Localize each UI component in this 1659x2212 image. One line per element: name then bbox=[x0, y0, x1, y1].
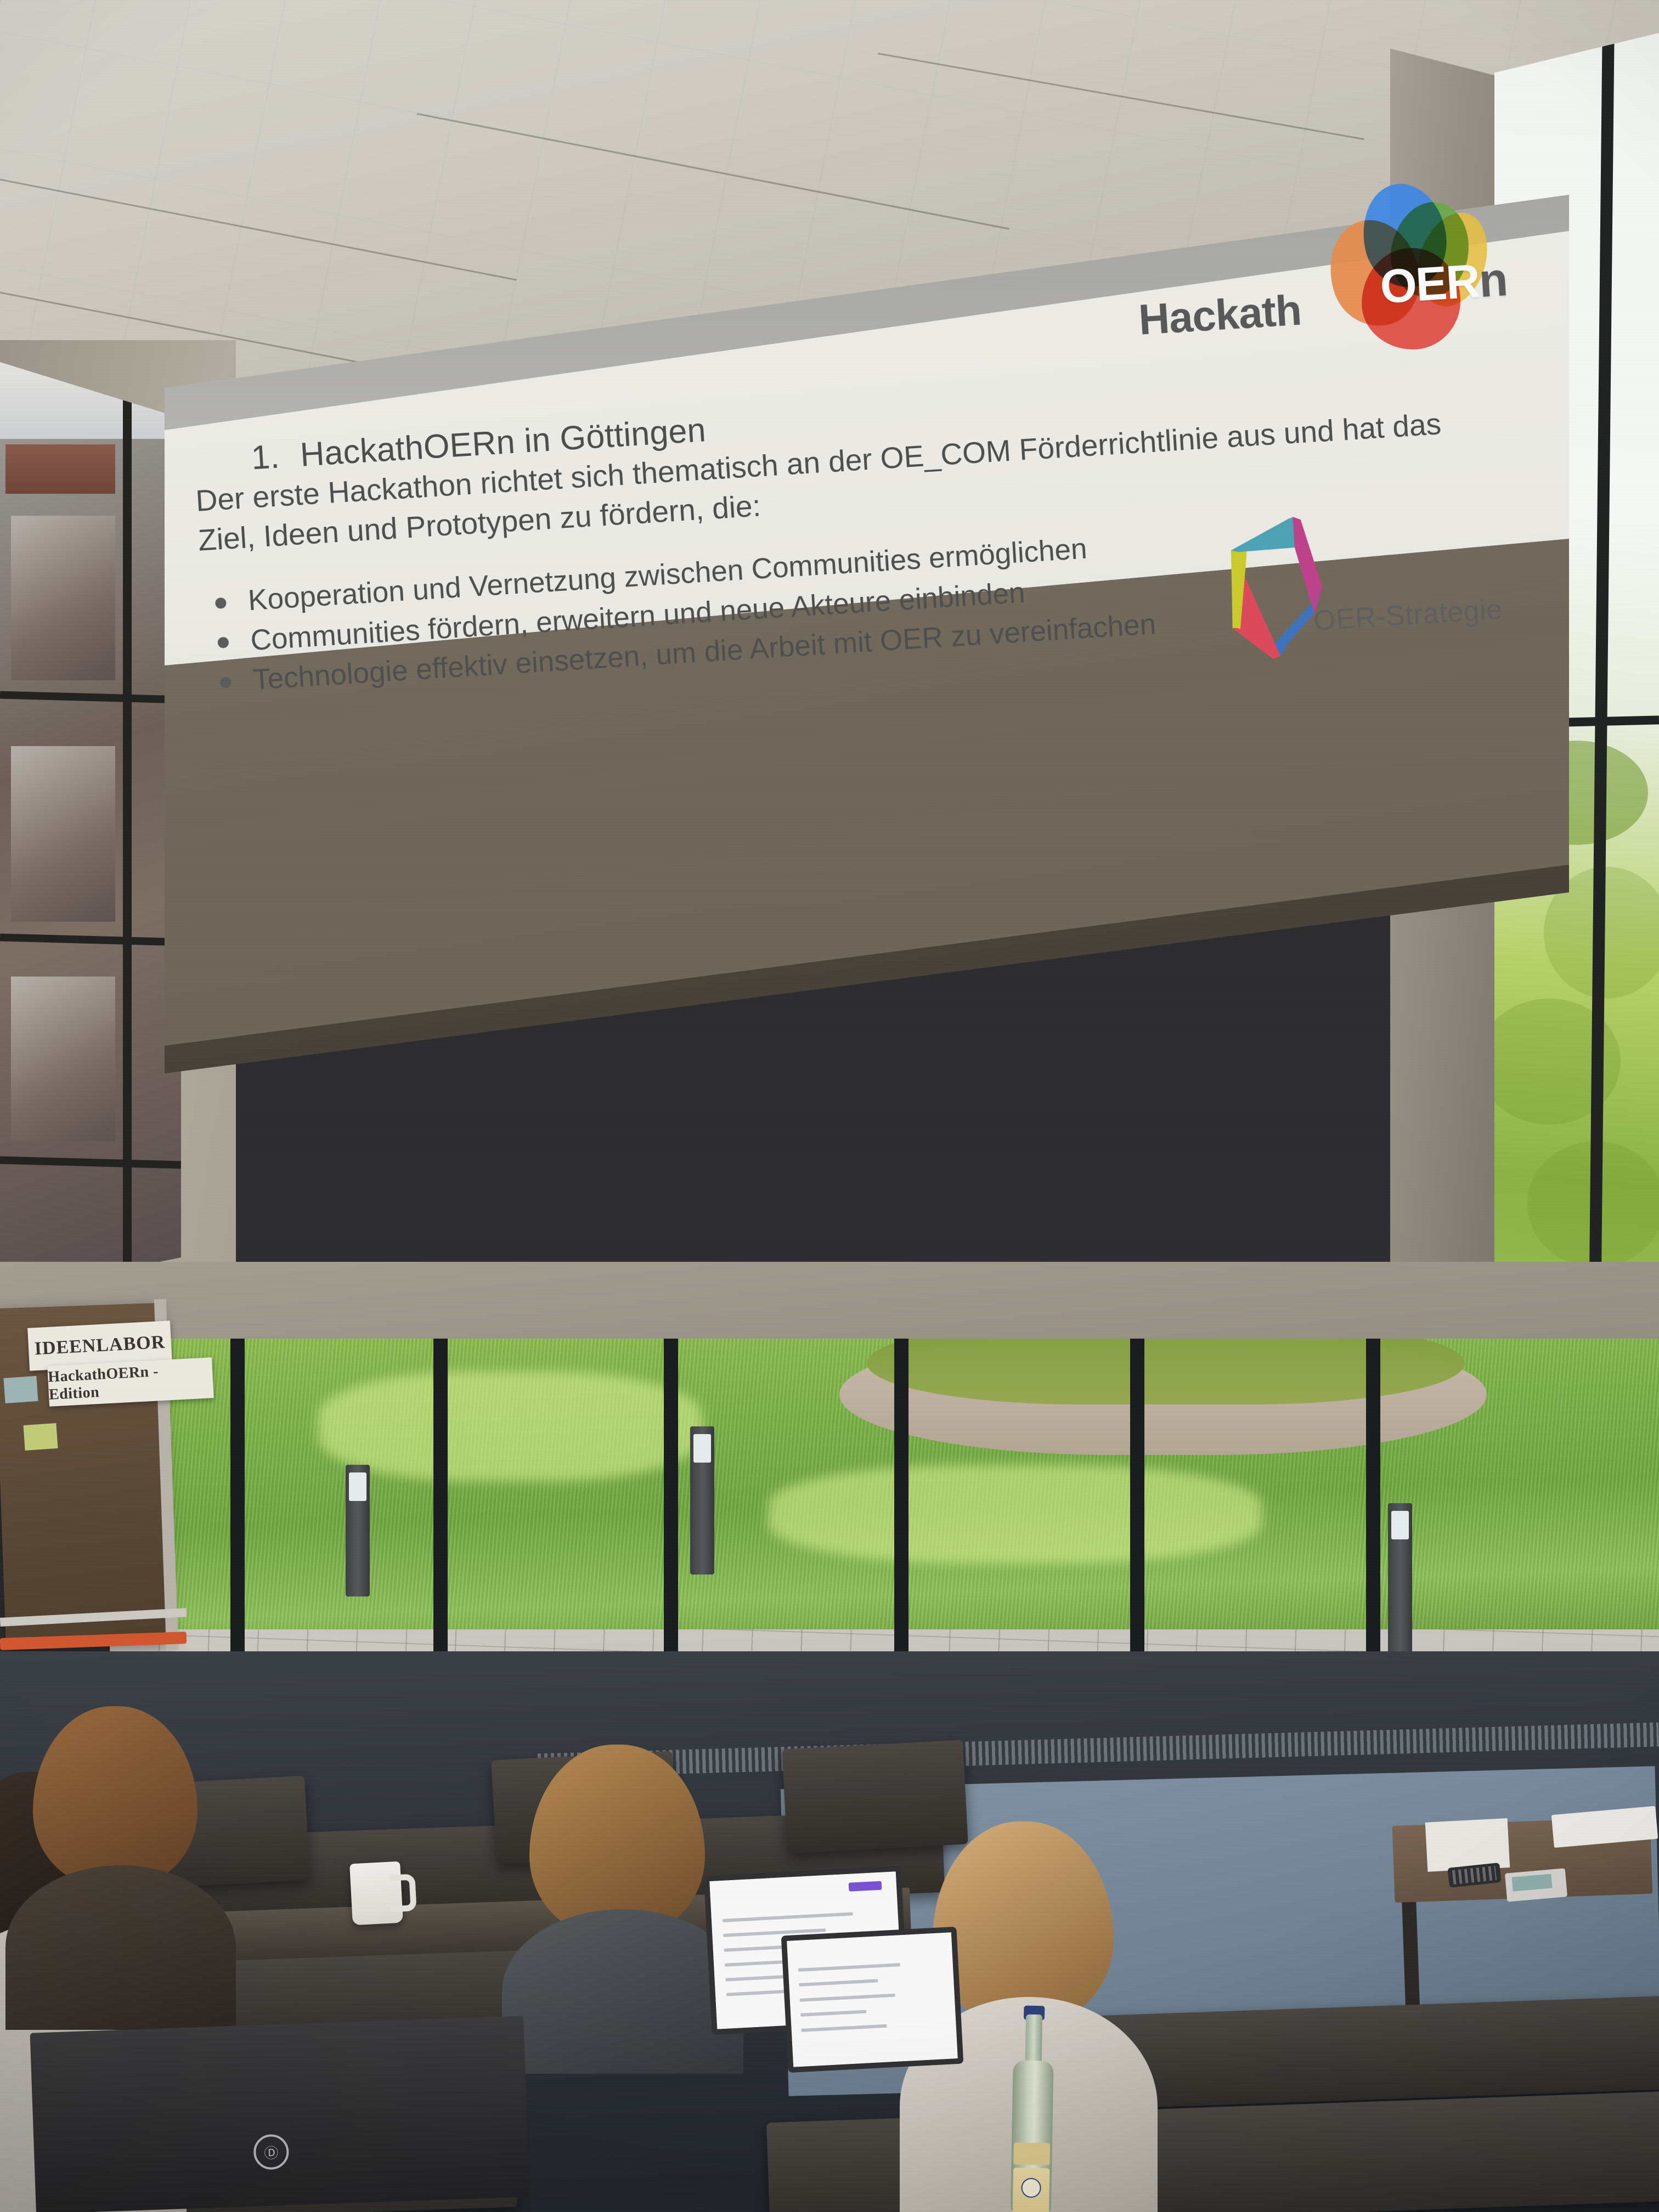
sticky-note bbox=[23, 1423, 58, 1451]
bollard-lamp-lens bbox=[349, 1472, 366, 1501]
bullet-dot-icon bbox=[217, 637, 229, 648]
hackathoern-wordmark-oern: OERn bbox=[1379, 252, 1509, 314]
coffee-mug bbox=[349, 1861, 403, 1926]
oer-strategie-pentagon-icon bbox=[1210, 493, 1384, 662]
bollard-lamp-lens bbox=[1391, 1511, 1409, 1539]
dell-logo-icon: Ⓓ bbox=[253, 2134, 289, 2170]
hackathoern-logo: Hackath OERn bbox=[1131, 178, 1503, 364]
bollard-lamp bbox=[690, 1426, 714, 1575]
hackathoern-oer-letters: OER bbox=[1379, 255, 1481, 313]
projection-screen: Hackath OERn 1.HackathOERn in Göttingen … bbox=[165, 195, 1569, 1402]
audience-person-shoulder bbox=[5, 1865, 236, 2030]
oer-strategie-logo: OER-Strategie bbox=[1210, 489, 1449, 662]
bottle-body: CLUB-MATE bbox=[1011, 2060, 1054, 2212]
bottle-neck-label bbox=[1013, 2142, 1050, 2165]
seat-back-panel bbox=[782, 1740, 968, 1853]
bottle-neck bbox=[1025, 2015, 1042, 2068]
laptop-lid-closed[interactable]: Ⓓ bbox=[30, 2016, 530, 2212]
bollard-lamp-lens bbox=[693, 1434, 711, 1463]
hackathoern-n-letter: n bbox=[1477, 253, 1508, 307]
bullet-dot-icon bbox=[220, 676, 232, 688]
laptop-screen-content bbox=[787, 1932, 958, 2067]
sign-hackathoern-edition: HackathOERn - Edition bbox=[47, 1357, 213, 1407]
photo-scene: Hackath OERn 1.HackathOERn in Göttingen … bbox=[0, 0, 1659, 2212]
hackathoern-wordmark-dark: Hackath bbox=[1137, 285, 1303, 345]
laptop-ui-accent bbox=[848, 1881, 882, 1892]
sticky-note bbox=[3, 1376, 38, 1403]
bullet-dot-icon bbox=[215, 597, 227, 608]
slide-title-number: 1. bbox=[250, 437, 280, 476]
laptop-screen[interactable] bbox=[781, 1927, 964, 2073]
bollard-lamp bbox=[1388, 1503, 1412, 1668]
left-window bbox=[0, 362, 181, 1295]
av-control-panel[interactable] bbox=[1505, 1868, 1567, 1901]
club-mate-bottle: CLUB-MATE bbox=[1011, 2014, 1054, 2212]
bollard-lamp bbox=[346, 1465, 370, 1596]
